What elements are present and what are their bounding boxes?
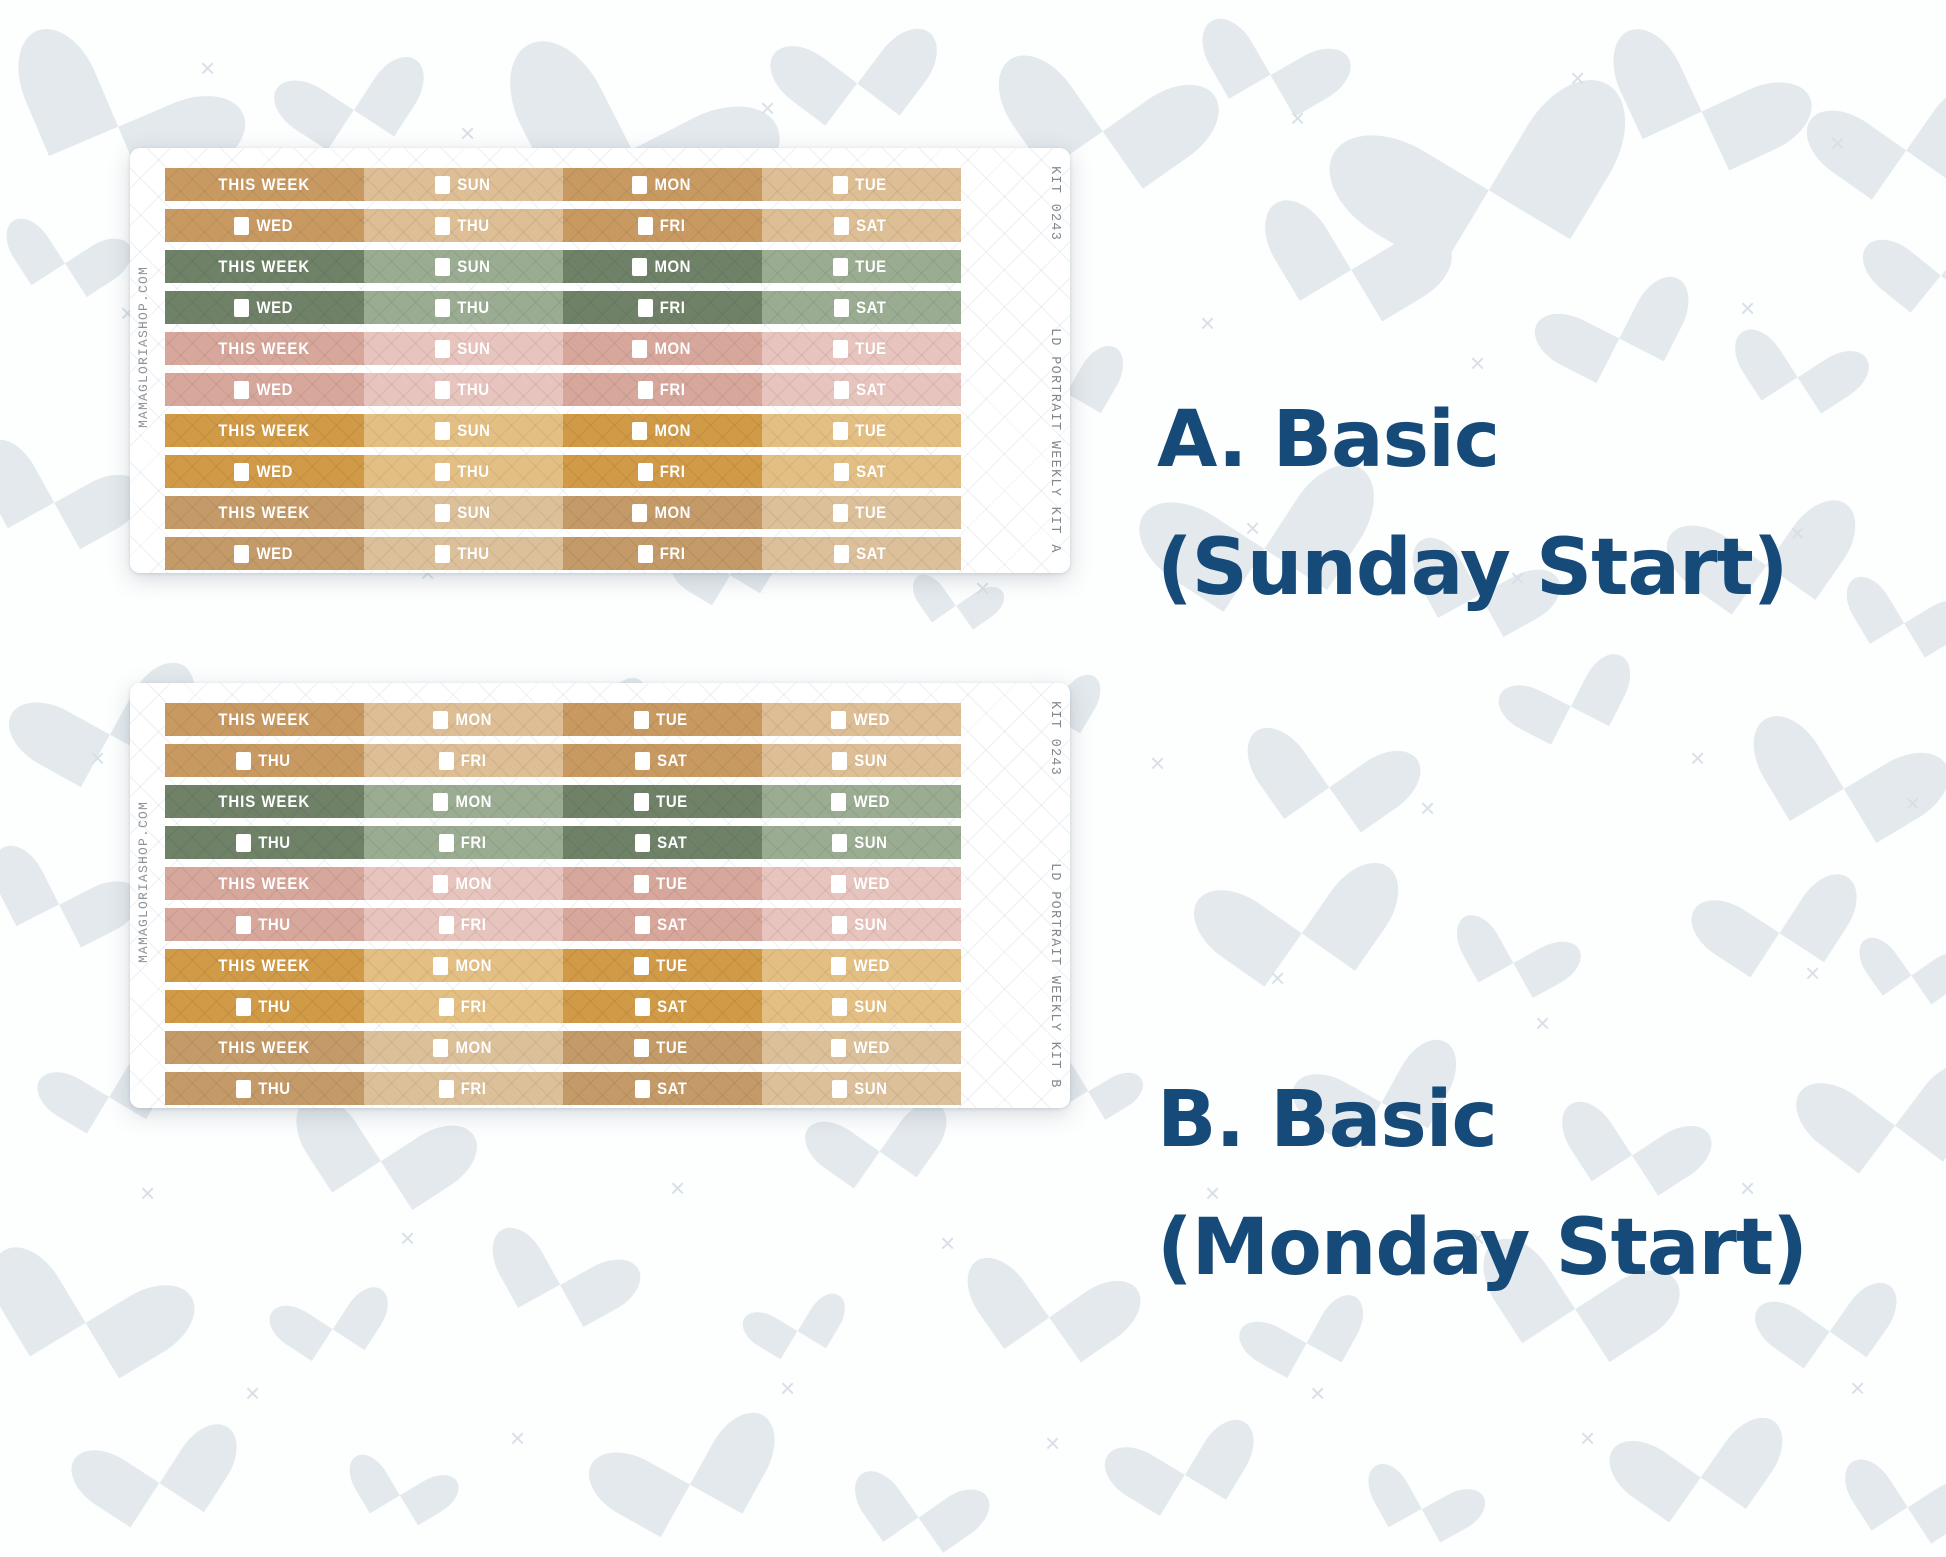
sticker-segment[interactable]: SAT: [563, 908, 762, 941]
segment-label: TUE: [856, 421, 888, 441]
checkbox-icon[interactable]: [634, 711, 649, 729]
checkbox-icon[interactable]: [439, 834, 454, 852]
checkbox-icon[interactable]: [433, 957, 448, 975]
sticker-segment[interactable]: TUE: [762, 168, 961, 201]
checkbox-icon[interactable]: [833, 504, 848, 522]
sticker-segment[interactable]: TUE: [762, 496, 961, 529]
caption-b-line2: (Monday Start): [1157, 1208, 1807, 1290]
sticker-segment[interactable]: WED: [165, 455, 364, 488]
sticker-segment[interactable]: SUN: [762, 826, 961, 859]
sticker-segment[interactable]: SAT: [762, 455, 961, 488]
segment-label: SAT: [856, 216, 886, 236]
checkbox-icon[interactable]: [638, 381, 653, 399]
checkbox-icon[interactable]: [234, 463, 249, 481]
sticker-row: THIS WEEK MON TUE WED: [165, 785, 977, 818]
checkbox-icon[interactable]: [635, 834, 650, 852]
sticker-segment[interactable]: THU: [165, 908, 364, 941]
checkbox-icon[interactable]: [433, 1039, 448, 1057]
sticker-row: THU FRI SAT SUN: [165, 826, 977, 859]
checkbox-icon[interactable]: [439, 1080, 454, 1098]
sticker-segment[interactable]: SAT: [563, 744, 762, 777]
segment-label: TUE: [657, 710, 689, 730]
segment-label: MON: [654, 339, 690, 359]
segment-label: SAT: [657, 915, 687, 935]
segment-label: MON: [654, 175, 690, 195]
segment-label: THIS WEEK: [219, 503, 311, 523]
sticker-segment[interactable]: THIS WEEK: [165, 785, 364, 818]
segment-label: FRI: [461, 751, 487, 771]
sticker-segment[interactable]: SUN: [364, 332, 563, 365]
sticker-segment[interactable]: MON: [364, 703, 563, 736]
segment-label: SUN: [457, 175, 490, 195]
checkbox-icon[interactable]: [234, 381, 249, 399]
segment-label: THU: [258, 751, 290, 771]
sticker-segment[interactable]: WED: [165, 209, 364, 242]
segment-label: MON: [455, 1038, 491, 1058]
segment-label: THIS WEEK: [219, 257, 311, 277]
sticker-segment[interactable]: SUN: [364, 250, 563, 283]
segment-label: SAT: [856, 298, 886, 318]
caption-a-line2: (Sunday Start): [1157, 528, 1787, 610]
checkbox-icon[interactable]: [834, 217, 849, 235]
segment-label: THU: [457, 462, 489, 482]
caption-b-line1: B. Basic: [1157, 1080, 1807, 1162]
sticker-segment[interactable]: SUN: [364, 414, 563, 447]
checkbox-icon[interactable]: [234, 545, 249, 563]
sticker-segment[interactable]: FRI: [364, 908, 563, 941]
caption-a: A. Basic (Sunday Start): [1157, 400, 1787, 610]
segment-label: THU: [258, 915, 290, 935]
segment-label: WED: [853, 956, 889, 976]
segment-label: FRI: [461, 915, 487, 935]
sticker-row: THIS WEEK MON TUE WED: [165, 949, 977, 982]
sticker-segment[interactable]: MON: [563, 250, 762, 283]
sticker-segment[interactable]: SUN: [762, 908, 961, 941]
sticker-segment[interactable]: MON: [364, 1031, 563, 1064]
segment-label: THIS WEEK: [219, 175, 311, 195]
caption-a-line1: A. Basic: [1157, 400, 1787, 482]
sticker-segment[interactable]: THIS WEEK: [165, 1031, 364, 1064]
sticker-segment[interactable]: FRI: [563, 537, 762, 570]
checkbox-icon[interactable]: [833, 340, 848, 358]
sticker-segment[interactable]: SUN: [762, 744, 961, 777]
checkbox-icon[interactable]: [435, 545, 450, 563]
segment-label: THIS WEEK: [219, 874, 311, 894]
sticker-segment[interactable]: SAT: [563, 990, 762, 1023]
checkbox-icon[interactable]: [635, 752, 650, 770]
checkbox-icon[interactable]: [634, 1039, 649, 1057]
checkbox-icon[interactable]: [234, 299, 249, 317]
sticker-row: THU FRI SAT SUN: [165, 744, 977, 777]
sticker-segment[interactable]: SAT: [762, 537, 961, 570]
checkbox-icon[interactable]: [433, 793, 448, 811]
checkbox-icon[interactable]: [632, 176, 647, 194]
sticker-segment[interactable]: TUE: [563, 703, 762, 736]
sticker-segment[interactable]: MON: [563, 414, 762, 447]
segment-label: FRI: [461, 997, 487, 1017]
segment-label: WED: [256, 216, 292, 236]
segment-label: MON: [654, 503, 690, 523]
sticker-segment[interactable]: WED: [762, 867, 961, 900]
checkbox-icon[interactable]: [435, 381, 450, 399]
segment-label: WED: [853, 710, 889, 730]
sticker-segment[interactable]: SUN: [364, 168, 563, 201]
segment-label: WED: [853, 792, 889, 812]
checkbox-icon[interactable]: [634, 957, 649, 975]
sticker-segment[interactable]: THIS WEEK: [165, 414, 364, 447]
sticker-segment[interactable]: TUE: [563, 785, 762, 818]
sticker-segment[interactable]: THIS WEEK: [165, 250, 364, 283]
checkbox-icon[interactable]: [833, 422, 848, 440]
segment-label: MON: [654, 421, 690, 441]
segment-label: SAT: [856, 544, 886, 564]
sticker-row: WED THU FRI SAT: [165, 291, 977, 324]
sticker-segment[interactable]: SUN: [762, 1072, 961, 1105]
checkbox-icon[interactable]: [435, 463, 450, 481]
checkbox-icon[interactable]: [435, 299, 450, 317]
sticker-segment[interactable]: THU: [364, 209, 563, 242]
checkbox-icon[interactable]: [833, 258, 848, 276]
checkbox-icon[interactable]: [638, 217, 653, 235]
segment-label: MON: [455, 874, 491, 894]
sticker-row: WED THU FRI SAT: [165, 209, 977, 242]
segment-label: THIS WEEK: [219, 956, 311, 976]
segment-label: WED: [853, 874, 889, 894]
sticker-segment[interactable]: TUE: [563, 1031, 762, 1064]
sticker-segment[interactable]: FRI: [563, 373, 762, 406]
segment-label: SUN: [855, 1079, 888, 1099]
sticker-segment[interactable]: THU: [165, 744, 364, 777]
checkbox-icon[interactable]: [634, 793, 649, 811]
sticker-segment[interactable]: FRI: [563, 455, 762, 488]
sticker-segment[interactable]: SAT: [563, 1072, 762, 1105]
segment-label: THU: [457, 298, 489, 318]
sticker-segment[interactable]: THIS WEEK: [165, 168, 364, 201]
sticker-segment[interactable]: TUE: [762, 250, 961, 283]
segment-label: SAT: [657, 1079, 687, 1099]
sticker-segment[interactable]: WED: [165, 291, 364, 324]
segment-label: FRI: [461, 833, 487, 853]
sticker-segment[interactable]: MON: [364, 785, 563, 818]
sticker-segment[interactable]: MON: [563, 496, 762, 529]
sticker-segment[interactable]: SAT: [762, 209, 961, 242]
checkbox-icon[interactable]: [435, 258, 450, 276]
sticker-segment[interactable]: WED: [165, 373, 364, 406]
sticker-segment[interactable]: THU: [165, 1072, 364, 1105]
segment-label: THU: [457, 380, 489, 400]
kit-series-label: LD PORTRAIT WEEKLY KIT A: [1047, 328, 1062, 554]
sticker-segment[interactable]: THU: [165, 826, 364, 859]
sticker-row: THIS WEEK SUN MON TUE: [165, 168, 977, 201]
segment-label: FRI: [660, 462, 686, 482]
checkbox-icon[interactable]: [832, 1080, 847, 1098]
checkbox-icon[interactable]: [632, 422, 647, 440]
sticker-row: THIS WEEK MON TUE WED: [165, 1031, 977, 1064]
sticker-rows: THIS WEEK MON TUE WED THU FRI SAT SUN TH…: [165, 703, 977, 1108]
sticker-segment[interactable]: FRI: [364, 1072, 563, 1105]
checkbox-icon[interactable]: [831, 793, 846, 811]
sticker-row: THIS WEEK MON TUE WED: [165, 703, 977, 736]
checkbox-icon[interactable]: [832, 916, 847, 934]
checkbox-icon[interactable]: [435, 176, 450, 194]
segment-label: THU: [258, 997, 290, 1017]
checkbox-icon[interactable]: [236, 834, 251, 852]
sticker-segment[interactable]: MON: [364, 949, 563, 982]
sticker-segment[interactable]: THU: [364, 455, 563, 488]
segment-label: TUE: [657, 1038, 689, 1058]
sticker-segment[interactable]: THU: [165, 990, 364, 1023]
checkbox-icon[interactable]: [433, 875, 448, 893]
checkbox-icon[interactable]: [236, 752, 251, 770]
sticker-segment[interactable]: THU: [364, 537, 563, 570]
checkbox-icon[interactable]: [433, 711, 448, 729]
kit-code-label: KIT 0243: [1047, 701, 1062, 776]
sticker-segment[interactable]: WED: [762, 1031, 961, 1064]
segment-label: FRI: [660, 216, 686, 236]
sticker-segment[interactable]: WED: [762, 703, 961, 736]
checkbox-icon[interactable]: [834, 381, 849, 399]
checkbox-icon[interactable]: [435, 504, 450, 522]
sticker-segment[interactable]: SUN: [364, 496, 563, 529]
checkbox-icon[interactable]: [435, 217, 450, 235]
checkbox-icon[interactable]: [435, 340, 450, 358]
segment-label: THIS WEEK: [219, 792, 311, 812]
checkbox-icon[interactable]: [831, 957, 846, 975]
checkbox-icon[interactable]: [439, 752, 454, 770]
checkbox-icon[interactable]: [632, 258, 647, 276]
checkbox-icon[interactable]: [234, 217, 249, 235]
sticker-segment[interactable]: SAT: [762, 291, 961, 324]
segment-label: SAT: [657, 751, 687, 771]
segment-label: SAT: [657, 833, 687, 853]
segment-label: THU: [258, 833, 290, 853]
checkbox-icon[interactable]: [439, 998, 454, 1016]
segment-label: MON: [455, 792, 491, 812]
sticker-segment[interactable]: THU: [364, 373, 563, 406]
segment-label: THIS WEEK: [219, 339, 311, 359]
segment-label: TUE: [856, 175, 888, 195]
segment-label: SUN: [457, 421, 490, 441]
watermark-shop-url: MAMAGLORIASHOP.COM: [136, 801, 151, 963]
segment-label: SAT: [856, 380, 886, 400]
segment-label: TUE: [657, 956, 689, 976]
sticker-sheet-a: MAMAGLORIASHOP.COMKIT 0243LD PORTRAIT WE…: [130, 148, 1070, 573]
checkbox-icon[interactable]: [834, 299, 849, 317]
sticker-sheet-b: MAMAGLORIASHOP.COMKIT 0243LD PORTRAIT WE…: [130, 683, 1070, 1108]
segment-label: FRI: [660, 298, 686, 318]
checkbox-icon[interactable]: [236, 916, 251, 934]
sticker-segment[interactable]: WED: [762, 949, 961, 982]
checkbox-icon[interactable]: [632, 340, 647, 358]
checkbox-icon[interactable]: [831, 1039, 846, 1057]
segment-label: SUN: [457, 257, 490, 277]
sticker-segment[interactable]: SUN: [762, 990, 961, 1023]
segment-label: SUN: [457, 503, 490, 523]
sticker-row: THIS WEEK SUN MON TUE: [165, 414, 977, 447]
segment-label: WED: [256, 544, 292, 564]
kit-code-label: KIT 0243: [1047, 166, 1062, 241]
segment-label: SUN: [855, 997, 888, 1017]
checkbox-icon[interactable]: [236, 998, 251, 1016]
sticker-segment[interactable]: FRI: [364, 744, 563, 777]
checkbox-icon[interactable]: [831, 875, 846, 893]
segment-label: THU: [457, 216, 489, 236]
sticker-segment[interactable]: TUE: [563, 867, 762, 900]
sticker-segment[interactable]: MON: [563, 168, 762, 201]
checkbox-icon[interactable]: [439, 916, 454, 934]
checkbox-icon[interactable]: [634, 875, 649, 893]
sticker-segment[interactable]: MON: [364, 867, 563, 900]
segment-label: TUE: [856, 339, 888, 359]
sticker-segment[interactable]: WED: [762, 785, 961, 818]
segment-label: FRI: [461, 1079, 487, 1099]
segment-label: TUE: [856, 503, 888, 523]
checkbox-icon[interactable]: [834, 463, 849, 481]
checkbox-icon[interactable]: [833, 176, 848, 194]
segment-label: THU: [457, 544, 489, 564]
sticker-row: WED THU FRI SAT: [165, 373, 977, 406]
sticker-segment[interactable]: WED: [165, 537, 364, 570]
sticker-row: THIS WEEK SUN MON TUE: [165, 496, 977, 529]
sticker-segment[interactable]: FRI: [364, 990, 563, 1023]
sticker-row: THIS WEEK SUN MON TUE: [165, 332, 977, 365]
segment-label: SUN: [855, 915, 888, 935]
sticker-segment[interactable]: SAT: [762, 373, 961, 406]
checkbox-icon[interactable]: [831, 711, 846, 729]
sticker-segment[interactable]: MON: [563, 332, 762, 365]
checkbox-icon[interactable]: [832, 834, 847, 852]
checkbox-icon[interactable]: [638, 299, 653, 317]
sticker-row: THIS WEEK SUN MON TUE: [165, 250, 977, 283]
checkbox-icon[interactable]: [638, 463, 653, 481]
sticker-row: WED THU FRI SAT: [165, 537, 977, 570]
sticker-row: THU FRI SAT SUN: [165, 908, 977, 941]
segment-label: FRI: [660, 544, 686, 564]
segment-label: TUE: [657, 792, 689, 812]
sticker-segment[interactable]: THU: [364, 291, 563, 324]
checkbox-icon[interactable]: [632, 504, 647, 522]
checkbox-icon[interactable]: [635, 916, 650, 934]
segment-label: TUE: [657, 874, 689, 894]
segment-label: THIS WEEK: [219, 421, 311, 441]
sticker-segment[interactable]: SAT: [563, 826, 762, 859]
sticker-segment[interactable]: FRI: [563, 291, 762, 324]
segment-label: MON: [455, 956, 491, 976]
checkbox-icon[interactable]: [638, 545, 653, 563]
sticker-segment[interactable]: TUE: [762, 332, 961, 365]
sticker-row: THU FRI SAT SUN: [165, 1072, 977, 1105]
sticker-segment[interactable]: THIS WEEK: [165, 703, 364, 736]
sticker-segment[interactable]: FRI: [364, 826, 563, 859]
sticker-segment[interactable]: THIS WEEK: [165, 867, 364, 900]
sticker-rows: THIS WEEK SUN MON TUE WED THU FRI SAT TH…: [165, 168, 977, 573]
sticker-segment[interactable]: TUE: [762, 414, 961, 447]
segment-label: SUN: [457, 339, 490, 359]
sticker-row: THIS WEEK MON TUE WED: [165, 867, 977, 900]
checkbox-icon[interactable]: [435, 422, 450, 440]
sticker-segment[interactable]: TUE: [563, 949, 762, 982]
segment-label: SAT: [657, 997, 687, 1017]
sticker-row: WED THU FRI SAT: [165, 455, 977, 488]
segment-label: WED: [256, 298, 292, 318]
segment-label: TUE: [856, 257, 888, 277]
sticker-segment[interactable]: THIS WEEK: [165, 332, 364, 365]
watermark-shop-url: MAMAGLORIASHOP.COM: [136, 266, 151, 428]
caption-b: B. Basic (Monday Start): [1157, 1080, 1807, 1290]
segment-label: SUN: [855, 833, 888, 853]
segment-label: THU: [258, 1079, 290, 1099]
sticker-segment[interactable]: THIS WEEK: [165, 949, 364, 982]
segment-label: FRI: [660, 380, 686, 400]
checkbox-icon[interactable]: [834, 545, 849, 563]
checkbox-icon[interactable]: [832, 998, 847, 1016]
sticker-row: THU FRI SAT SUN: [165, 990, 977, 1023]
segment-label: WED: [256, 462, 292, 482]
segment-label: WED: [256, 380, 292, 400]
checkbox-icon[interactable]: [635, 1080, 650, 1098]
checkbox-icon[interactable]: [236, 1080, 251, 1098]
sticker-segment[interactable]: THIS WEEK: [165, 496, 364, 529]
checkbox-icon[interactable]: [635, 998, 650, 1016]
segment-label: THIS WEEK: [219, 1038, 311, 1058]
sticker-segment[interactable]: FRI: [563, 209, 762, 242]
segment-label: MON: [654, 257, 690, 277]
segment-label: WED: [853, 1038, 889, 1058]
segment-label: SUN: [855, 751, 888, 771]
checkbox-icon[interactable]: [832, 752, 847, 770]
kit-series-label: LD PORTRAIT WEEKLY KIT B: [1047, 863, 1062, 1089]
segment-label: MON: [455, 710, 491, 730]
segment-label: THIS WEEK: [219, 710, 311, 730]
segment-label: SAT: [856, 462, 886, 482]
